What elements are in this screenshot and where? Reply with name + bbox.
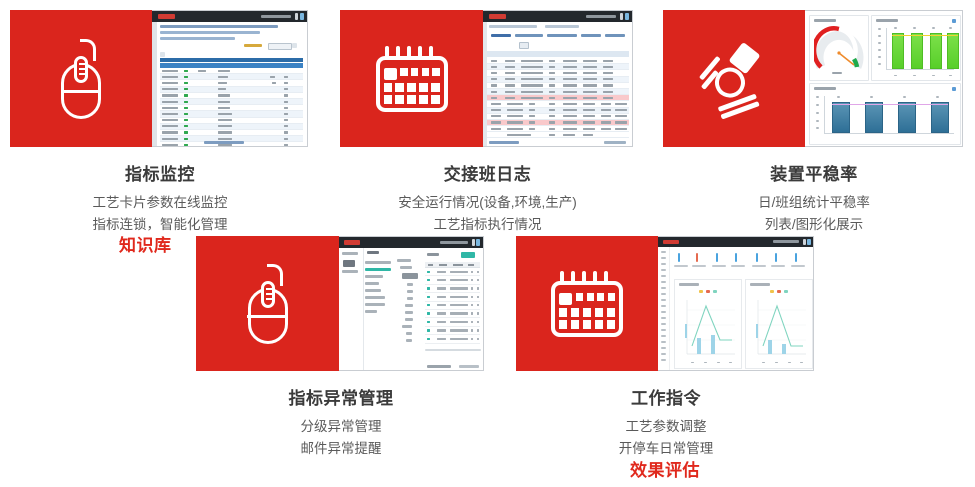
gauge-svg xyxy=(814,25,864,71)
titlebar-icon-1 xyxy=(620,13,623,20)
app-logo xyxy=(344,240,360,245)
thumbnail-exception-tree-table[interactable] xyxy=(339,236,484,371)
tree-node xyxy=(406,332,412,335)
grid-row xyxy=(425,302,480,310)
gauge-icon xyxy=(687,33,780,124)
nav-column[interactable] xyxy=(339,248,364,370)
primary-action-button[interactable] xyxy=(461,252,475,258)
card-media xyxy=(10,10,308,147)
bar xyxy=(832,102,850,133)
card-media xyxy=(196,236,484,371)
card-title: 交接班日志 xyxy=(340,160,635,185)
panel-title xyxy=(876,19,898,22)
grid-row xyxy=(425,268,480,276)
tree-node xyxy=(365,282,379,285)
card-media xyxy=(663,10,963,147)
tree-node xyxy=(405,318,413,321)
card-work-instruction[interactable]: 工作指令 工艺参数调整 开停车日常管理 xyxy=(516,236,816,451)
table-body[interactable] xyxy=(160,68,303,147)
titlebar-text xyxy=(586,15,616,18)
titlebar-text xyxy=(261,15,291,18)
grid-row xyxy=(425,310,480,318)
pagination[interactable] xyxy=(204,141,244,144)
chart-panel-right[interactable] xyxy=(745,279,813,369)
card-media xyxy=(340,10,633,147)
grid-toolbar-label xyxy=(427,253,439,256)
icon-pane xyxy=(340,10,483,147)
target-line xyxy=(892,35,958,36)
pagination[interactable] xyxy=(489,141,519,144)
grid-row xyxy=(425,285,480,293)
target-line xyxy=(832,104,948,105)
card-title: 指标异常管理 xyxy=(196,384,486,409)
calendar-icon xyxy=(551,271,623,337)
table-header xyxy=(487,51,629,57)
app-titlebar xyxy=(152,11,307,22)
thumbnail-shift-log-table[interactable] xyxy=(483,10,633,147)
tree-node xyxy=(365,289,381,292)
tree-node xyxy=(407,283,413,286)
tree-node-selected xyxy=(402,273,418,279)
tree-node xyxy=(365,261,391,264)
mouse-icon xyxy=(53,39,109,119)
horizontal-scrollbar[interactable] xyxy=(425,349,481,352)
app-titlebar xyxy=(658,237,813,247)
mouse-icon xyxy=(240,264,296,344)
calendar-icon xyxy=(376,46,448,112)
tree-panel-2[interactable] xyxy=(397,259,419,346)
grid-row xyxy=(425,318,480,326)
tree-panel[interactable] xyxy=(365,261,391,317)
kpi-strip xyxy=(674,253,809,271)
app-titlebar xyxy=(483,11,632,22)
titlebar-text xyxy=(773,240,799,243)
grid-row xyxy=(425,276,480,284)
card-title: 指标监控 xyxy=(10,160,310,185)
titlebar-icon-2 xyxy=(807,239,811,245)
panel-title xyxy=(814,87,836,90)
chart-svg xyxy=(746,280,812,368)
grid-row xyxy=(425,293,480,301)
chart-panel-left[interactable] xyxy=(674,279,742,369)
panel-zoom-icon[interactable] xyxy=(952,87,956,91)
tree-node xyxy=(365,296,385,299)
card-title: 装置平稳率 xyxy=(663,160,965,185)
bar xyxy=(931,102,949,133)
card-indicator-monitoring[interactable]: 指标监控 工艺卡片参数在线监控 指标连锁，智能化管理 xyxy=(10,10,310,225)
panel-title xyxy=(814,19,836,22)
card-subtitle-2: 邮件异常提醒 xyxy=(196,438,486,459)
tree-node-selected xyxy=(365,268,391,271)
chart-panel-green-bars[interactable] xyxy=(871,15,961,81)
tab-label[interactable] xyxy=(367,251,379,254)
thumbnail-work-instruction-charts[interactable] xyxy=(658,236,814,371)
chart-panel-blue-bars[interactable] xyxy=(809,83,961,145)
card-unit-stability-rate[interactable]: 装置平稳率 日/班组统计平稳率 列表/图形化展示 xyxy=(663,10,965,225)
left-rail[interactable] xyxy=(658,247,670,370)
titlebar-icon-2 xyxy=(300,13,304,20)
card-subtitle-1: 工艺卡片参数在线监控 xyxy=(10,192,310,213)
panel-zoom-icon[interactable] xyxy=(952,19,956,23)
tree-node xyxy=(365,303,385,306)
tree-node xyxy=(405,311,413,314)
titlebar-icon-1 xyxy=(472,239,475,246)
tree-node xyxy=(405,304,413,307)
tree-node xyxy=(406,339,412,342)
tree-node xyxy=(402,325,412,328)
bar xyxy=(865,102,883,133)
icon-pane xyxy=(516,236,658,371)
data-grid[interactable] xyxy=(425,251,480,358)
titlebar-icon-2 xyxy=(625,13,629,20)
card-media xyxy=(516,236,814,371)
icon-pane xyxy=(663,10,805,147)
table-row xyxy=(487,132,629,138)
tree-node xyxy=(407,290,413,293)
gauge-value-label xyxy=(832,72,842,74)
pagination[interactable] xyxy=(427,365,451,368)
icon-pane xyxy=(196,236,339,371)
icon-pane xyxy=(10,10,152,147)
app-sidebar xyxy=(152,22,157,146)
card-subtitle-1: 安全运行情况(设备,环境,生产) xyxy=(340,192,635,213)
card-subtitle-2: 列表/图形化展示 xyxy=(663,214,965,235)
bar xyxy=(911,33,923,69)
card-indicator-exception-management[interactable]: 指标异常管理 分级异常管理 邮件异常提醒 xyxy=(196,236,486,451)
titlebar-icon-1 xyxy=(803,239,806,245)
card-subtitle-2: 工艺指标执行情况 xyxy=(340,214,635,235)
table-header xyxy=(160,58,303,62)
chart-panel-gauge[interactable] xyxy=(809,15,869,81)
card-subtitle-1: 工艺参数调整 xyxy=(516,416,816,437)
chart-svg xyxy=(675,280,741,368)
tree-node xyxy=(407,297,413,300)
card-subtitle-1: 日/班组统计平稳率 xyxy=(663,192,965,213)
tree-node xyxy=(397,259,411,262)
app-logo xyxy=(663,240,679,245)
slide-canvas: 指标监控 工艺卡片参数在线监控 指标连锁，智能化管理 xyxy=(0,0,975,487)
red-tag-knowledge-base: 知识库 xyxy=(119,231,172,256)
tree-node xyxy=(365,275,383,278)
card-shift-handover-log[interactable]: 交接班日志 安全运行情况(设备,环境,生产) 工艺指标执行情况 xyxy=(340,10,635,225)
app-titlebar xyxy=(339,237,483,248)
grid-row xyxy=(425,335,480,343)
table-body[interactable] xyxy=(487,58,629,138)
gauge-chart xyxy=(814,25,864,71)
titlebar-icon-2 xyxy=(476,239,480,246)
bar xyxy=(898,102,916,133)
bar xyxy=(930,33,942,69)
tree-node xyxy=(400,266,412,269)
card-title: 工作指令 xyxy=(516,384,816,409)
titlebar-icon-1 xyxy=(295,13,298,20)
card-subtitle-1: 分级异常管理 xyxy=(196,416,486,437)
thumbnail-stability-dashboard[interactable] xyxy=(805,10,963,147)
red-tag-effect-evaluation: 效果评估 xyxy=(630,456,700,481)
app-logo xyxy=(158,14,175,19)
grid-row xyxy=(425,327,480,335)
titlebar-text xyxy=(440,241,468,244)
tree-node xyxy=(365,310,377,313)
thumbnail-erp-table[interactable] xyxy=(152,10,308,147)
bar xyxy=(947,33,959,69)
bar xyxy=(892,33,904,69)
app-logo xyxy=(489,14,506,19)
